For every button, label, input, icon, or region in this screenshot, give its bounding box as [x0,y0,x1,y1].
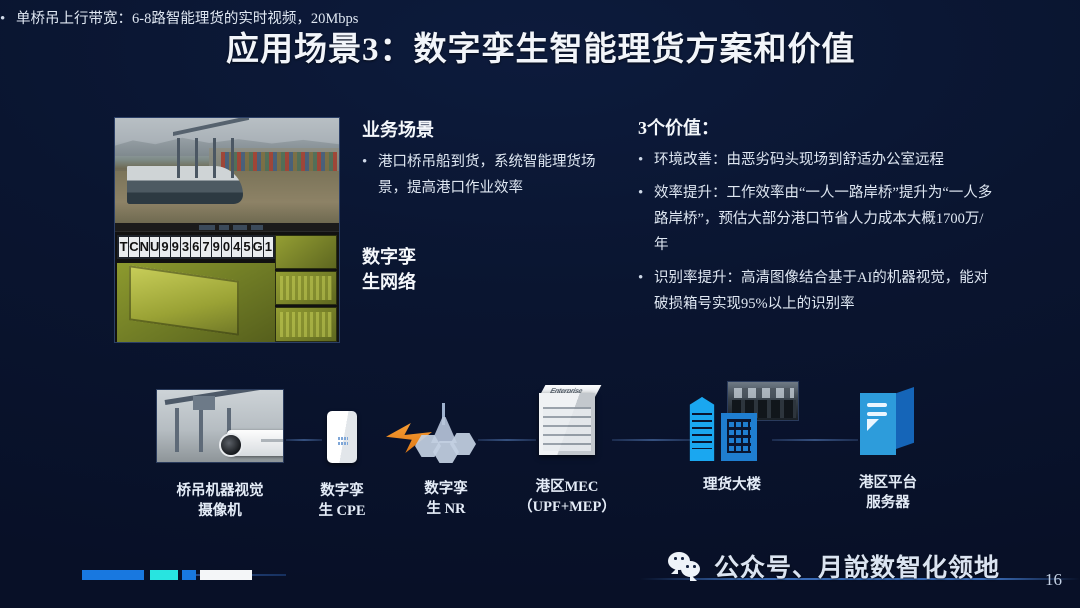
photo-panel: TCNU993679045G1 [114,117,340,343]
container-id-char: 5 [242,237,251,257]
twin-network-block: 数字孪生网络 [362,245,432,295]
twin-network-heading: 数字孪生网络 [362,245,432,295]
container-id-char: 4 [232,237,241,257]
values-heading: 3个价值： [638,116,996,141]
container-id-char: 1 [264,237,273,257]
container-id-char: 7 [201,237,210,257]
container-id-char: 9 [171,237,180,257]
container-id-char: 3 [181,237,190,257]
wechat-icon [668,552,704,580]
diagram-node-building[interactable]: 理货大楼 [672,383,792,495]
bullet-item: 效率提升：工作效率由“一人一路岸桥”提升为“一人多路岸桥”，预估大部分港口节省人… [638,180,996,258]
architecture-diagram: 桥吊机器视觉 摄像机 数字孪 生 CPE 数字孪 生 NR Enterprise… [0,375,1080,540]
container-id-char: 9 [212,237,221,257]
container-main-view [117,263,275,342]
progress-indicator [26,570,286,582]
bullet-item: 环境改善：由恶劣码头现场到舒适办公室远程 [638,147,996,173]
diagram-node-label: 港区MEC （UPF+MEP） [512,477,622,517]
cpe-device-icon [327,411,357,463]
page-number: 16 [1045,570,1062,590]
office-building-icon [677,383,787,461]
crane-camera-icon [156,389,284,463]
container-id-char: 6 [191,237,200,257]
diagram-node-label: 数字孪 生 NR [405,479,487,519]
port-aerial-photo [115,118,339,223]
values-block: 3个价值： 环境改善：由恶劣码头现场到舒适办公室远程效率提升：工作效率由“一人一… [638,116,996,324]
page-title: 应用场景3：数字孪生智能理货方案和价值 [226,28,926,72]
container-id-char: 0 [222,237,231,257]
container-sub-view-1 [275,235,337,269]
business-scenario-block: 业务场景 港口桥吊船到货，系统智能理货场景，提高港口作业效率 [362,118,620,208]
business-scenario-heading: 业务场景 [362,118,620,143]
server-cabinet-icon [860,387,916,457]
gantry-crane-shape [173,132,249,178]
segment-blue [82,570,144,580]
ocr-toolbar [115,223,339,232]
diagram-node-cpe[interactable]: 数字孪 生 CPE [300,411,384,521]
business-scenario-bullets: 港口桥吊船到货，系统智能理货场景，提高港口作业效率 [362,149,620,201]
container-sub-view-3 [275,307,337,342]
bullet-item: 识别率提升：高清图像结合基于AI的机器视觉，能对破损箱号实现95%以上的识别率 [638,265,996,317]
diagram-node-camera[interactable]: 桥吊机器视觉 摄像机 [150,389,290,521]
segment-blue2 [182,570,196,580]
container-ocr-screen: TCNU993679045G1 [115,223,339,343]
diagram-node-label: 理货大楼 [672,475,792,495]
values-bullets: 环境改善：由恶劣码头现场到舒适办公室远程效率提升：工作效率由“一人一路岸桥”提升… [638,147,996,317]
container-sub-view-2 [275,271,337,305]
container-id-char: U [150,237,159,257]
security-camera-icon [227,430,284,456]
diagram-node-nr[interactable]: 数字孪 生 NR [405,403,487,519]
bullet-item: 港口桥吊船到货，系统智能理货场景，提高港口作业效率 [362,149,620,201]
5g-tower-icon [415,403,477,461]
container-id-char: G [253,237,263,257]
twin-network-bullets: 单桥吊上行带宽：6-8路智能理货的实时视频，20Mbps [0,6,1080,32]
container-id-char: T [119,237,128,257]
diagram-node-label: 数字孪 生 CPE [300,481,384,521]
bullet-item: 单桥吊上行带宽：6-8路智能理货的实时视频，20Mbps [0,6,1080,32]
diagram-node-server[interactable]: 港区平台 服务器 [838,387,938,513]
watermark: 公众号、月說数智化领地 [668,546,1000,586]
container-id-char: 9 [160,237,169,257]
container-id-char: C [129,237,138,257]
diagram-node-label: 桥吊机器视觉 摄像机 [150,481,290,521]
watermark-text: 公众号、月說数智化领地 [714,548,1000,584]
segment-cyan [150,570,178,580]
server-rack-icon: Enterprise [533,385,601,459]
diagram-node-label: 港区平台 服务器 [838,473,938,513]
container-id-readout: TCNU993679045G1 [117,235,275,259]
diagram-node-mec[interactable]: Enterprise 港区MEC （UPF+MEP） [512,385,622,517]
slide-canvas: 应用场景3：数字孪生智能理货方案和价值 TCNU993679045G1 [0,0,1080,608]
segment-white [200,570,252,580]
container-id-char: N [140,237,149,257]
